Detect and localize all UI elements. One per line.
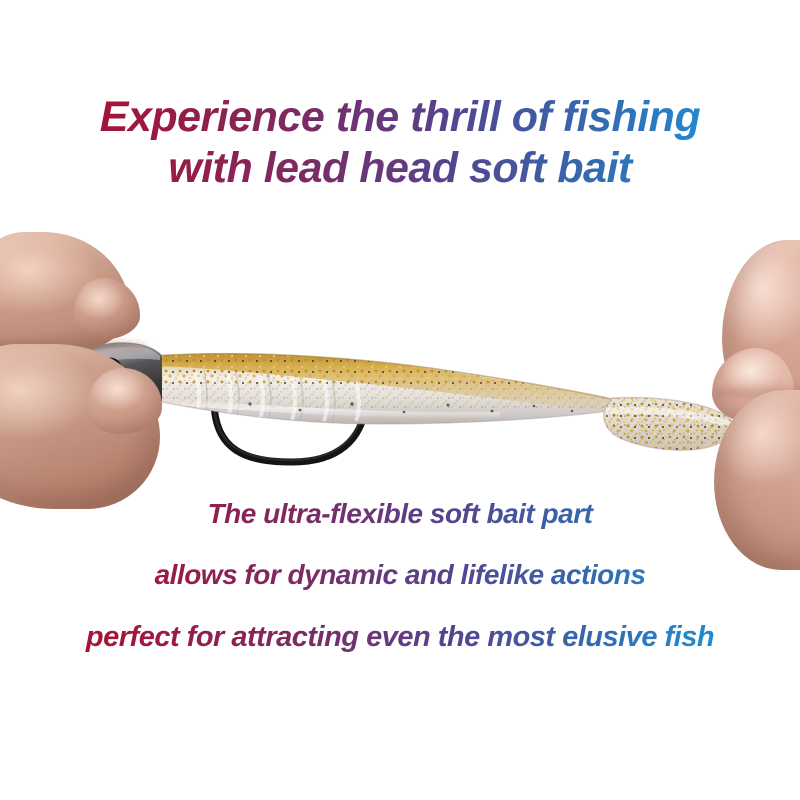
headline-line-1: Experience the thrill of fishing (0, 92, 800, 142)
hook-highlight (214, 400, 364, 460)
body-copy-line-2: allows for dynamic and lifelike actions (0, 557, 800, 593)
body-copy-line-1: The ultra-flexible soft bait part (0, 496, 800, 532)
left-thumb-tip (88, 368, 162, 434)
promo-image-canvas: Experience the thrill of fishing with le… (0, 0, 800, 800)
headline-line-2: with lead head soft bait (0, 143, 800, 193)
body-copy-line-3: perfect for attracting even the most elu… (0, 618, 800, 656)
hook-shank (214, 400, 366, 462)
lure-body (148, 350, 620, 424)
right-thumb (714, 390, 800, 570)
left-hand (0, 232, 180, 502)
left-index-fingertip (74, 278, 140, 340)
